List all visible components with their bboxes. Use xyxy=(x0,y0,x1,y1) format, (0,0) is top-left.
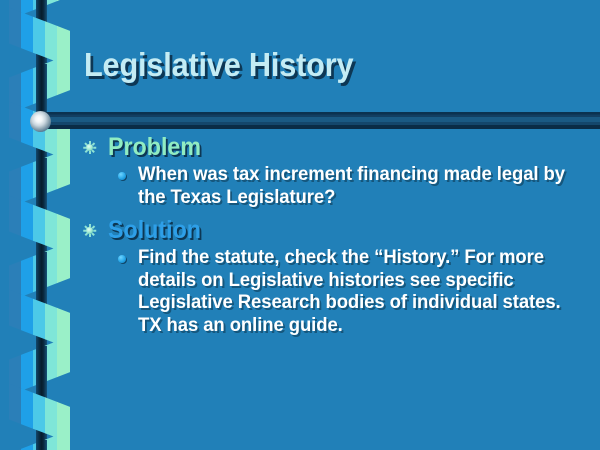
slide-body: Problem When was tax increment financing… xyxy=(80,133,600,341)
glow-dot-icon xyxy=(30,111,51,132)
bullet-label-solution: Solution xyxy=(108,216,201,244)
bullet-group-solution: Solution xyxy=(80,216,600,244)
sub-bullet-solution-1: Find the statute, check the “History.” F… xyxy=(80,246,600,336)
bullet-label-problem: Problem xyxy=(108,133,201,161)
slide-canvas: Legislative History Problem When was tax… xyxy=(0,0,600,450)
sub-bullet-text: When was tax increment financing made le… xyxy=(138,163,577,208)
sunburst-icon xyxy=(83,224,96,237)
title-divider-bar xyxy=(41,112,600,129)
sub-bullet-problem-1: When was tax increment financing made le… xyxy=(80,163,600,208)
bullet-group-problem: Problem xyxy=(80,133,600,161)
round-dot-icon xyxy=(118,172,126,180)
helix-ribbon-decoration xyxy=(0,0,78,450)
round-dot-icon xyxy=(118,255,126,263)
sub-bullet-text: Find the statute, check the “History.” F… xyxy=(138,246,577,336)
sunburst-icon xyxy=(83,141,96,154)
page-title: Legislative History xyxy=(84,48,549,83)
